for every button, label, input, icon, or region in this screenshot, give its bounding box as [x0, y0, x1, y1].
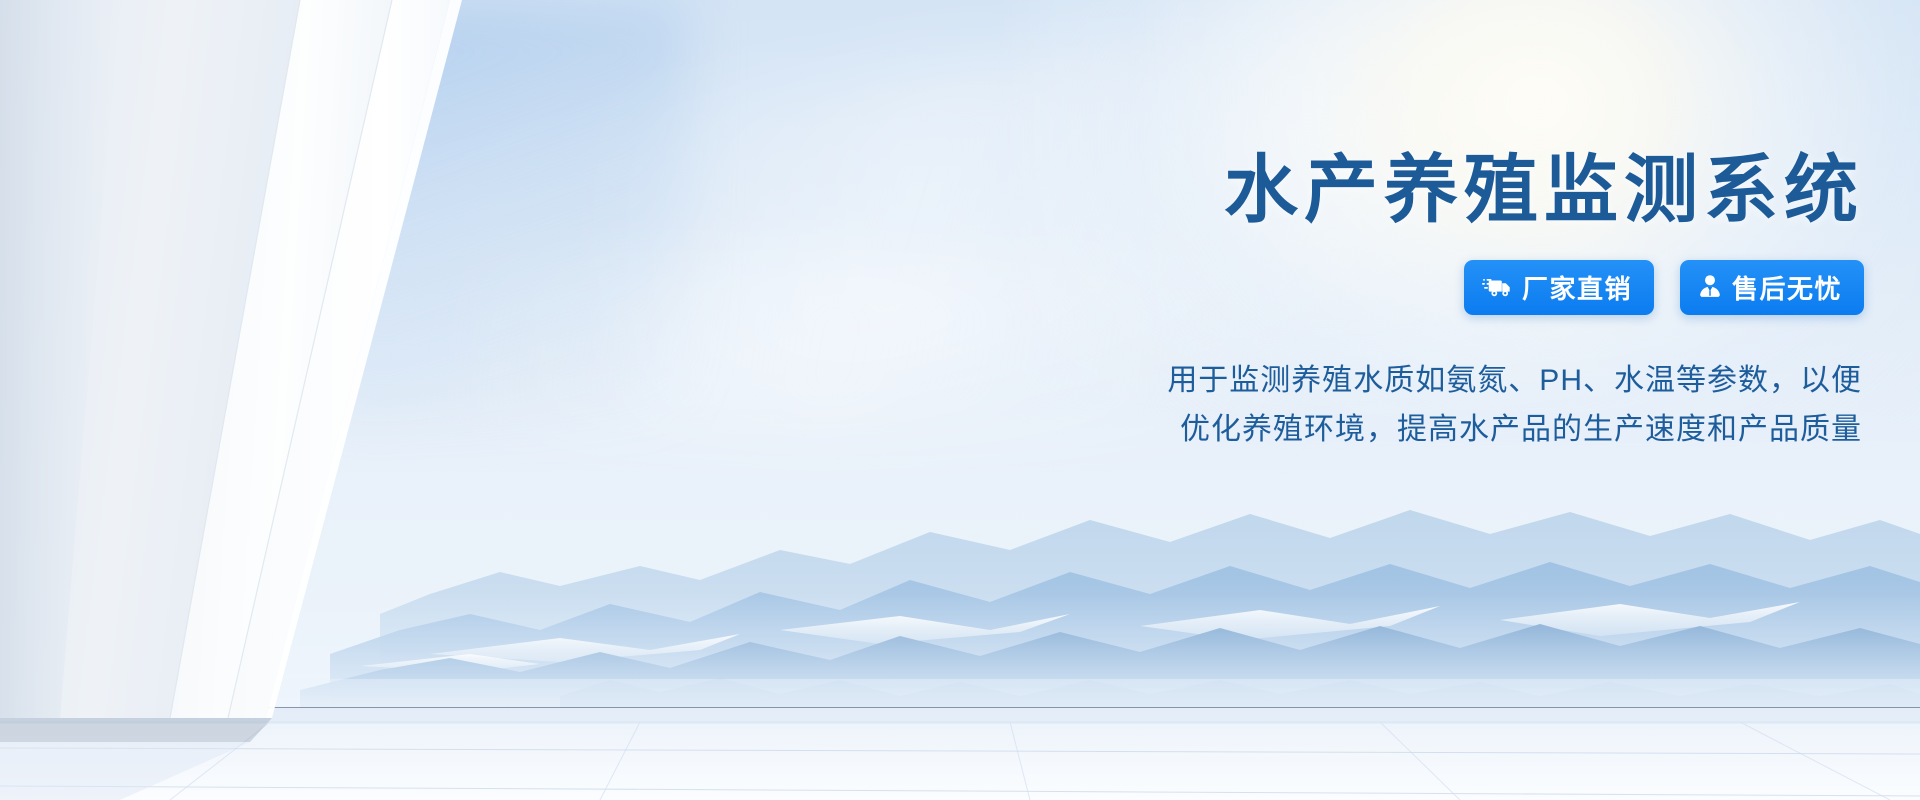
- badge-factory-direct[interactable]: 厂家直销: [1464, 260, 1654, 315]
- description-line-2: 优化养殖环境，提高水产品的生产速度和产品质量: [1050, 406, 1862, 455]
- hero-content: 水产养殖监测系统: [1050, 150, 1870, 454]
- page-title: 水产养殖监测系统: [1050, 150, 1870, 230]
- hero-banner: 水产养殖监测系统: [0, 0, 1920, 800]
- badge-label: 厂家直销: [1522, 269, 1632, 306]
- badge-after-sales[interactable]: 售后无忧: [1680, 260, 1864, 315]
- badge-label: 售后无忧: [1732, 269, 1842, 306]
- architectural-wedge: [0, 0, 560, 800]
- page-description: 用于监测养殖水质如氨氮、PH、水温等参数，以便 优化养殖环境，提高水产品的生产速…: [1050, 357, 1870, 454]
- delivery-truck-icon: [1482, 275, 1512, 299]
- badge-group: 厂家直销 售后无忧: [1050, 260, 1870, 315]
- description-line-1: 用于监测养殖水质如氨氮、PH、水温等参数，以便: [1050, 357, 1862, 406]
- customer-support-person-icon: [1698, 274, 1722, 300]
